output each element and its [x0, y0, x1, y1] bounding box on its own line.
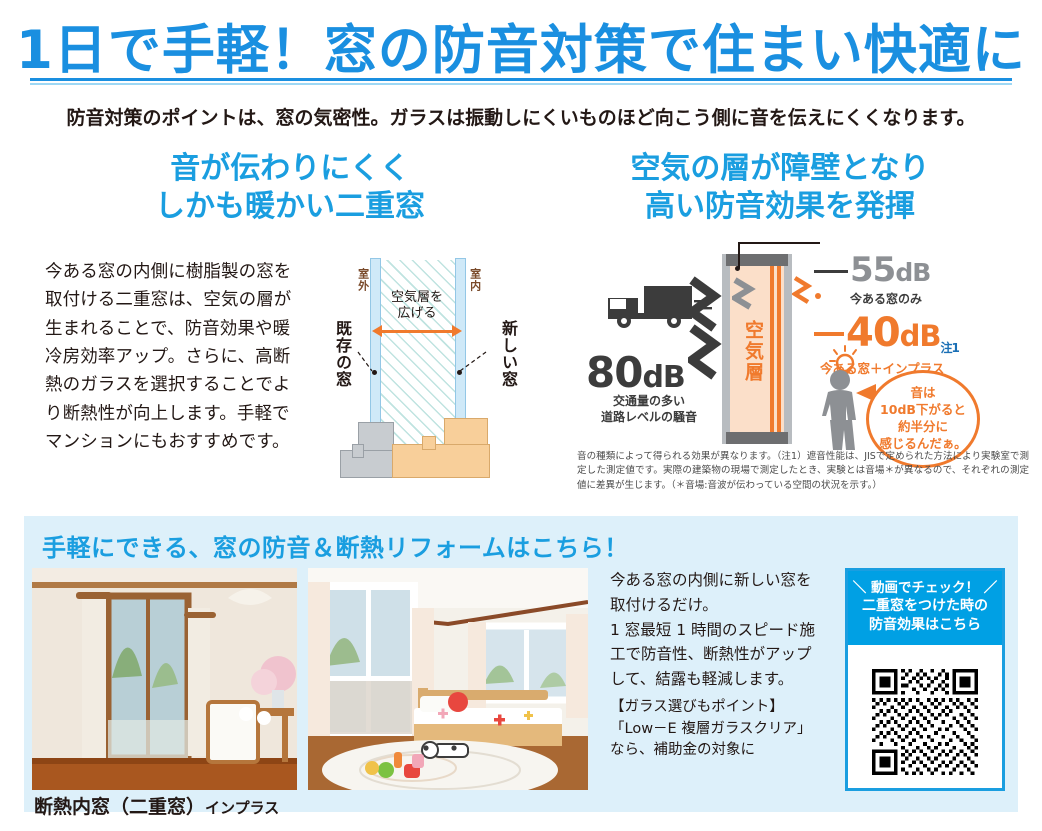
label-new-window: 新しい窓: [496, 320, 520, 388]
column-pointer-vline: [738, 242, 740, 268]
air-layer-column: 空気層: [726, 254, 788, 444]
sound-wave-zigzag-right: [792, 272, 826, 318]
soundproofing-illustration: 80dB 交通量の多い 道路レベルの騒音 空気層 55dB 今ある窓: [578, 248, 1018, 448]
person-silhouette-icon: [818, 368, 870, 452]
existing-frame-notch: [352, 444, 364, 458]
sound-wave-inside-column: [732, 276, 762, 316]
column-cap-top: [726, 254, 788, 266]
bottom-panel-body: 今ある窓の内側に新しい窓を取付けるだけ。 1 窓最短 1 時間のスピード施工で防…: [610, 568, 825, 762]
product-caption-main: 断熱内窓（二重窓）: [34, 796, 205, 818]
label-outside: 室外: [356, 268, 369, 292]
photo-childrens-bedroom-art: [308, 568, 588, 790]
result-existing-caption: 今ある窓のみ: [850, 290, 922, 307]
existing-frame-base: [340, 450, 398, 478]
title-underline-thin: [30, 83, 1012, 85]
photo-childrens-bedroom: [308, 568, 588, 790]
infographic-page: 1日で手軽！窓の防音対策で住まい快適に 防音対策のポイントは、窓の気密性。ガラス…: [0, 0, 1042, 831]
new-window-pointer-dot: [457, 370, 462, 375]
video-qr-line1: ＼ 動画でチェック！ ／: [848, 579, 1002, 597]
noise-source-value: 80dB: [586, 348, 685, 397]
column-cap-bottom: [726, 432, 788, 444]
photo-dining-room: [32, 568, 297, 790]
page-title: 1日で手軽！窓の防音対策で住まい快適に: [0, 8, 1042, 84]
column-pointer-hline: [738, 242, 820, 244]
product-caption-sub: インプラス: [205, 799, 279, 817]
title-underline-thick: [30, 78, 1012, 81]
bottom-panel-heading: 手軽にできる、窓の防音＆断熱リフォームはこちら！: [42, 528, 629, 563]
qr-code[interactable]: [872, 669, 978, 775]
bottom-panel-body-glass-note: 【ガラス選びもポイント】 「Low－E 複層ガラスクリア」なら、補助金の対象に: [610, 697, 825, 762]
left-column-body: 今ある窓の内側に樹脂製の窓を取付ける二重窓は、空気の層が生まれることで、防音効果…: [45, 258, 295, 456]
video-qr-header: ＼ 動画でチェック！ ／ 二重窓をつけた時の 防音効果はこちら: [848, 571, 1002, 645]
new-frame-notch: [422, 436, 436, 450]
label-inside: 室内: [468, 268, 481, 292]
video-qr-box[interactable]: ＼ 動画でチェック！ ／ 二重窓をつけた時の 防音効果はこちら: [845, 568, 1005, 791]
existing-window-pointer-dot: [372, 370, 377, 375]
column-air-label: 空気層: [740, 320, 767, 383]
result-improved-dash: [814, 332, 844, 336]
product-caption: 断熱内窓（二重窓）インプラス: [34, 792, 279, 819]
result-existing-value: 55dB: [850, 250, 930, 290]
window-cross-section-diagram: 室外 室内 空気層を 広げる 既存の窓 新しい窓: [318, 252, 534, 490]
photo-dining-room-art: [32, 568, 297, 790]
left-column-heading: 音が伝わりにくく しかも暖かい二重窓: [110, 150, 470, 227]
bottom-panel-body-main: 今ある窓の内側に新しい窓を取付けるだけ。 1 窓最短 1 時間のスピード施工で防…: [610, 568, 825, 692]
result-improved-value: 40dB注1: [846, 310, 959, 356]
lead-paragraph: 防音対策のポイントは、窓の気密性。ガラスは振動しにくいものほど向こう側に音を伝え…: [0, 103, 1042, 130]
new-frame-base: [392, 444, 490, 478]
air-layer-caption: 空気層を 広げる: [378, 290, 456, 323]
air-layer-width-arrow: [381, 330, 453, 333]
right-column-heading: 空気の層が障壁となり 高い防音効果を発揮: [580, 150, 980, 227]
label-existing-window: 既存の窓: [330, 320, 354, 388]
video-qr-line2: 二重窓をつけた時の 防音効果はこちら: [848, 597, 1002, 635]
fineprint-disclaimer: 音の種類によって得られる効果が異なります。（注1）遮音性能は、JISで定められた…: [577, 450, 1029, 493]
column-stripe-a: [770, 266, 774, 432]
column-stripe-b: [777, 266, 781, 432]
noise-source-caption: 交通量の多い 道路レベルの騒音: [584, 394, 714, 425]
column-pointer-dot: [735, 266, 740, 271]
result-existing-dash: [814, 270, 848, 273]
